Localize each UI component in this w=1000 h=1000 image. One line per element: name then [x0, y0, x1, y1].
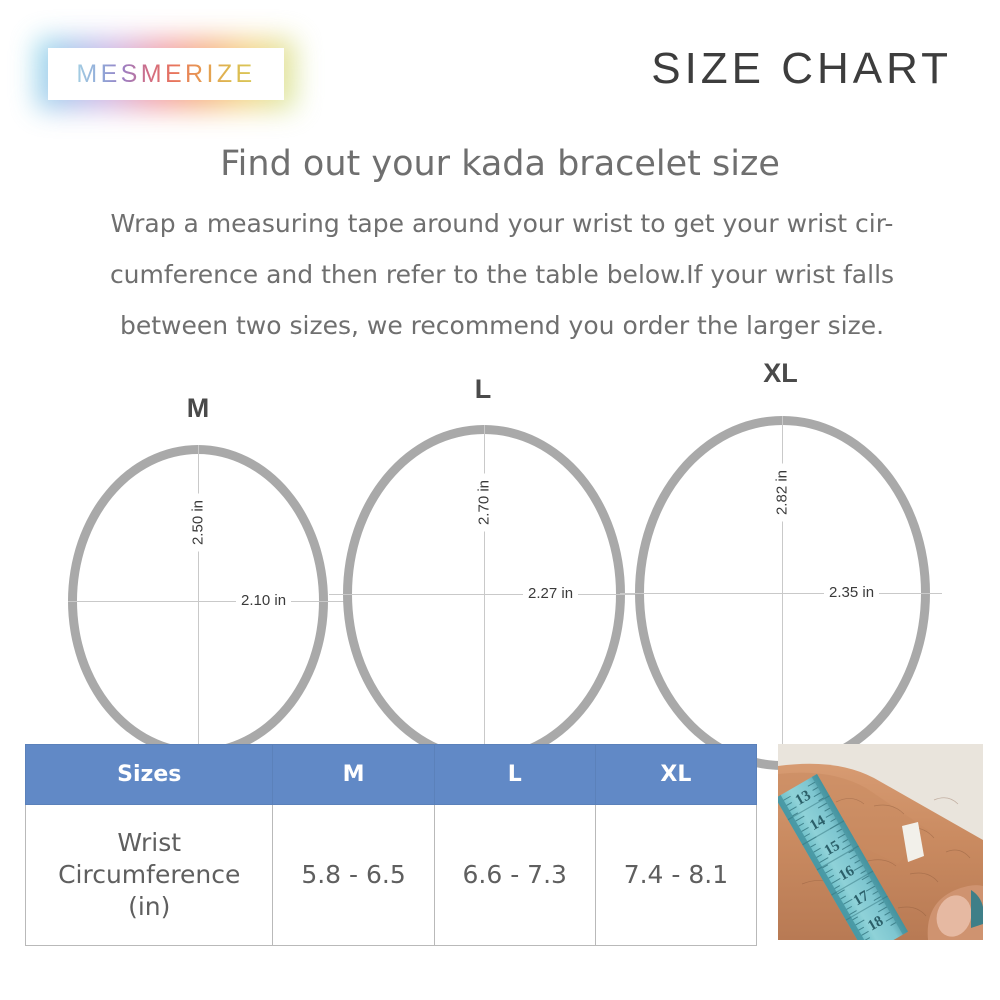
header-cell-l: L — [434, 745, 595, 805]
bracelet-diagram-l-label: L — [337, 374, 629, 405]
table-header-row: Sizes M L XL — [26, 745, 757, 805]
logo-box: MESMERIZE — [48, 48, 284, 100]
axis-horizontal-m — [68, 601, 346, 602]
section-heading: Find out your kada bracelet size — [0, 144, 1000, 184]
dimension-width-m: 2.10 in — [236, 592, 291, 609]
bracelet-diagrams: M 2.50 in 2.10 in L 2.70 in 2.27 in XL 2… — [0, 340, 1000, 740]
header-cell-xl: XL — [595, 745, 756, 805]
dimension-width-l: 2.27 in — [523, 585, 578, 602]
wrist-measure-illustration: 13 14 15 16 17 18 — [778, 744, 983, 940]
size-table: Sizes M L XL Wrist Circumference (in) 5.… — [25, 744, 757, 946]
row-label-wrist-circumference: Wrist Circumference (in) — [26, 805, 273, 946]
cell-wrist-circumference-m: 5.8 - 6.5 — [273, 805, 434, 946]
row-label-line-2: Circumference — [58, 860, 240, 889]
size-table-head: Sizes M L XL — [26, 745, 757, 805]
header-cell-sizes: Sizes — [26, 745, 273, 805]
row-label-line-1: Wrist — [117, 828, 181, 857]
page-title: SIZE CHART — [651, 44, 952, 94]
axis-horizontal-xl — [620, 593, 942, 594]
cell-wrist-circumference-l: 6.6 - 7.3 — [434, 805, 595, 946]
bracelet-diagram-m: M 2.50 in 2.10 in — [60, 370, 336, 770]
bracelet-diagram-m-label: M — [60, 393, 336, 424]
header-cell-m: M — [273, 745, 434, 805]
cell-wrist-circumference-xl: 7.4 - 8.1 — [595, 805, 756, 946]
row-label-line-3: (in) — [128, 892, 170, 921]
bracelet-diagram-xl-label: XL — [628, 358, 933, 389]
dimension-width-xl: 2.35 in — [824, 584, 879, 601]
instructions-line-2: cumference and then refer to the table b… — [52, 249, 952, 300]
dimension-height-xl: 2.82 in — [770, 464, 795, 522]
logo-text: MESMERIZE — [76, 60, 255, 89]
brand-logo: MESMERIZE — [48, 48, 284, 100]
axis-horizontal-l — [329, 594, 637, 595]
dimension-height-m: 2.50 in — [186, 494, 211, 552]
instructions-line-1: Wrap a measuring tape around your wrist … — [52, 198, 952, 249]
bracelet-diagram-l: L 2.70 in 2.27 in — [337, 350, 629, 770]
instructions: Wrap a measuring tape around your wrist … — [52, 198, 952, 351]
wrist-measure-photo: 13 14 15 16 17 18 — [778, 744, 983, 940]
bracelet-diagram-xl: XL 2.82 in 2.35 in — [628, 340, 933, 780]
table-row: Wrist Circumference (in) 5.8 - 6.5 6.6 -… — [26, 805, 757, 946]
size-table-body: Wrist Circumference (in) 5.8 - 6.5 6.6 -… — [26, 805, 757, 946]
dimension-height-l: 2.70 in — [472, 474, 497, 532]
